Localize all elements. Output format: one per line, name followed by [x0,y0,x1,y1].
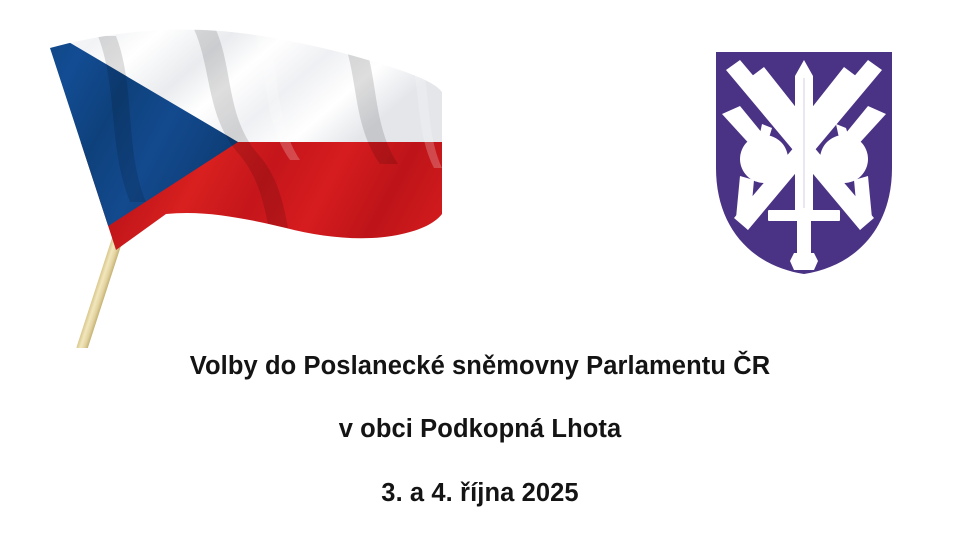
election-poster: Volby do Poslanecké sněmovny Parlamentu … [0,0,960,540]
coat-of-arms-svg [706,42,902,286]
czech-flag-image [38,18,448,348]
page-title: Volby do Poslanecké sněmovny Parlamentu … [0,352,960,381]
poster-text-block: Volby do Poslanecké sněmovny Parlamentu … [0,344,960,508]
czech-flag-svg [38,18,448,348]
coat-of-arms-image [706,42,902,286]
election-date-line: 3. a 4. října 2025 [0,479,960,508]
municipality-line: v obci Podkopná Lhota [0,415,960,444]
